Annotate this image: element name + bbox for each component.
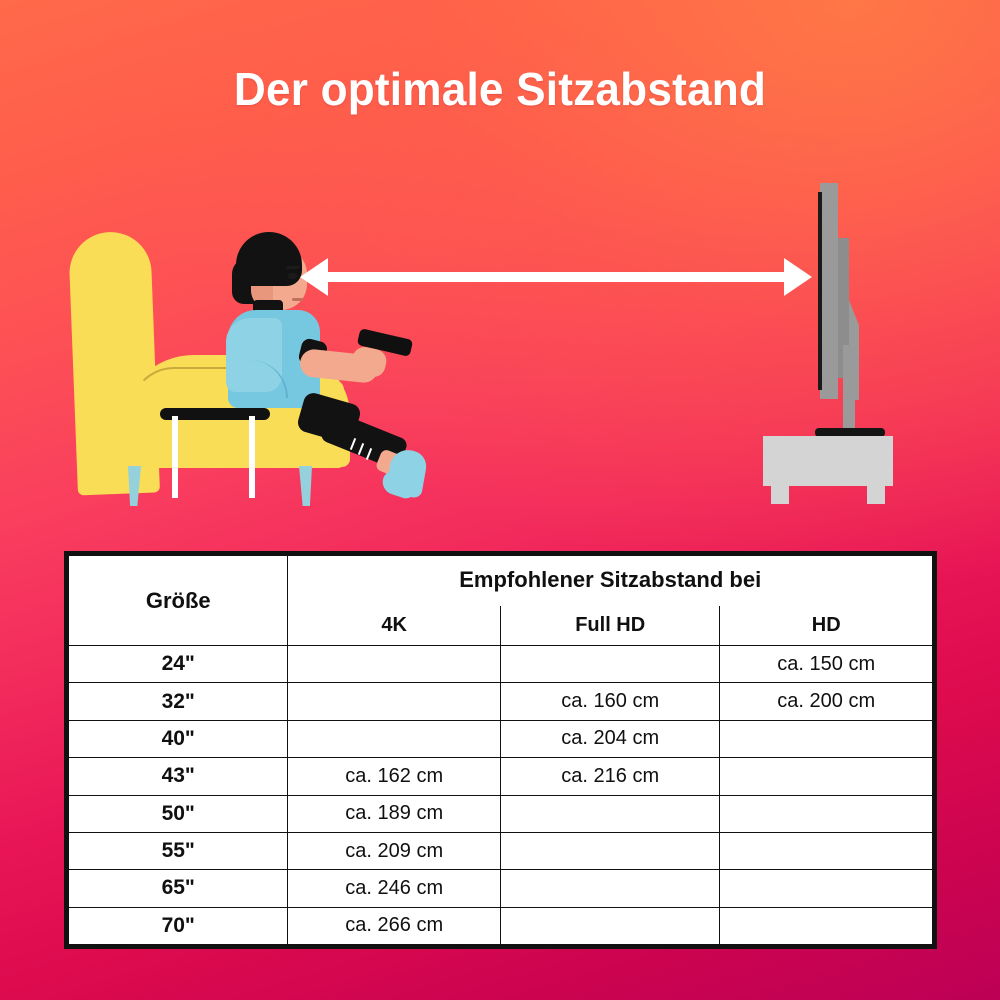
cell-size: 24" <box>69 646 288 683</box>
distance-arrow-head-right <box>784 258 812 296</box>
table-row: 55" ca. 209 cm <box>69 832 933 869</box>
cell-4k: ca. 162 cm <box>288 758 501 795</box>
cell-4k <box>288 683 501 720</box>
cell-hd: ca. 200 cm <box>720 683 933 720</box>
tv-screen-panel <box>820 183 838 399</box>
cell-hd: ca. 150 cm <box>720 646 933 683</box>
cell-hd <box>720 907 933 944</box>
infographic-poster: Der optimale Sitzabstand <box>0 0 1000 1000</box>
tv-cabinet <box>763 436 893 486</box>
cell-hd <box>720 832 933 869</box>
cell-full-hd: ca. 160 cm <box>500 683 719 720</box>
header-full-hd: Full HD <box>500 606 719 646</box>
cell-4k: ca. 246 cm <box>288 870 501 907</box>
cell-hd <box>720 758 933 795</box>
table-row: 24" ca. 150 cm <box>69 646 933 683</box>
cell-full-hd <box>500 832 719 869</box>
cell-size: 65" <box>69 870 288 907</box>
table-row: 50" ca. 189 cm <box>69 795 933 832</box>
table-row: 40" ca. 204 cm <box>69 720 933 757</box>
cell-full-hd: ca. 204 cm <box>500 720 719 757</box>
armchair-leg-back <box>299 466 312 506</box>
table-head: Größe Empfohlener Sitzabstand bei 4K Ful… <box>69 556 933 646</box>
cell-full-hd <box>500 907 719 944</box>
tv-screen-front-edge <box>818 192 822 390</box>
armchair-leg-front <box>128 466 141 506</box>
cell-4k: ca. 209 cm <box>288 832 501 869</box>
cell-4k: ca. 189 cm <box>288 795 501 832</box>
stool-leg <box>172 416 178 498</box>
cell-hd <box>720 870 933 907</box>
table-row: 65" ca. 246 cm <box>69 870 933 907</box>
cell-size: 50" <box>69 795 288 832</box>
cell-full-hd <box>500 795 719 832</box>
page-title: Der optimale Sitzabstand <box>20 62 980 116</box>
table: Größe Empfohlener Sitzabstand bei 4K Ful… <box>68 555 933 945</box>
cell-full-hd <box>500 870 719 907</box>
header-hd: HD <box>720 606 933 646</box>
viewing-distance-table: Größe Empfohlener Sitzabstand bei 4K Ful… <box>64 551 937 949</box>
cell-4k <box>288 720 501 757</box>
cell-full-hd: ca. 216 cm <box>500 758 719 795</box>
cell-size: 43" <box>69 758 288 795</box>
person-mouth <box>292 298 303 301</box>
table-row: 43" ca. 162 cm ca. 216 cm <box>69 758 933 795</box>
header-4k: 4K <box>288 606 501 646</box>
cell-4k: ca. 266 cm <box>288 907 501 944</box>
cell-hd <box>720 720 933 757</box>
table-header-row-top: Größe Empfohlener Sitzabstand bei <box>69 556 933 606</box>
table-row: 70" ca. 266 cm <box>69 907 933 944</box>
cell-4k <box>288 646 501 683</box>
tv-cabinet-foot <box>867 486 885 504</box>
cell-size: 55" <box>69 832 288 869</box>
table-row: 32" ca. 160 cm ca. 200 cm <box>69 683 933 720</box>
cell-size: 32" <box>69 683 288 720</box>
cell-hd <box>720 795 933 832</box>
person-eye <box>288 273 297 279</box>
cell-size: 70" <box>69 907 288 944</box>
stool-leg <box>249 416 255 498</box>
header-size: Größe <box>69 556 288 646</box>
cell-size: 40" <box>69 720 288 757</box>
header-group-distance: Empfohlener Sitzabstand bei <box>288 556 933 606</box>
distance-arrow-shaft <box>322 272 790 282</box>
table-body: 24" ca. 150 cm 32" ca. 160 cm ca. 200 cm… <box>69 646 933 945</box>
cell-full-hd <box>500 646 719 683</box>
tv-stand-neck <box>843 345 855 435</box>
tv-cabinet-foot <box>771 486 789 504</box>
